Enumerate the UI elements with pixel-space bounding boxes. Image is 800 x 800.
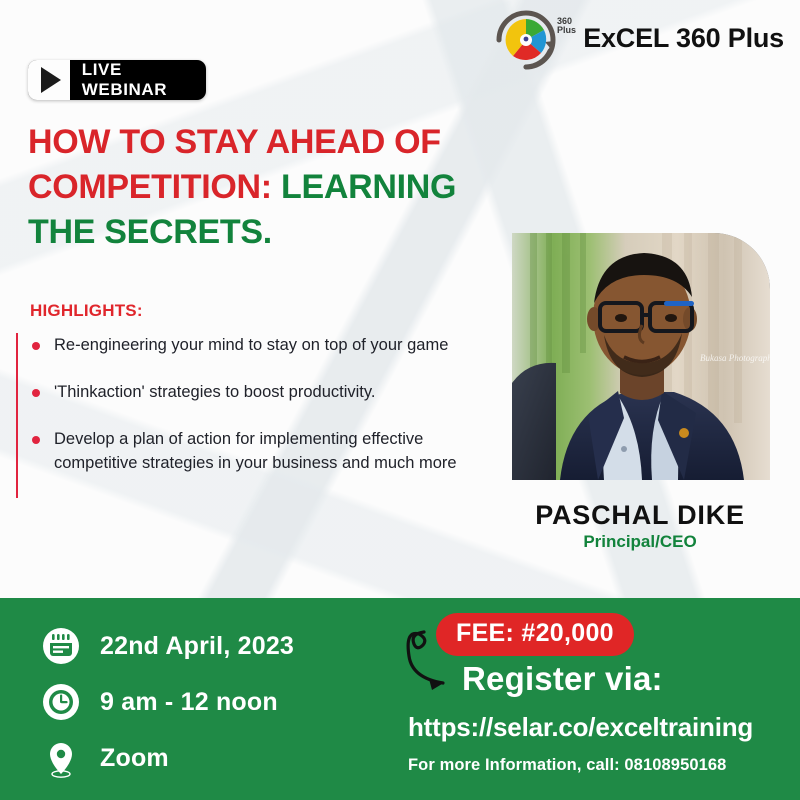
event-time-value: 9 am - 12 noon <box>100 688 278 717</box>
speaker-name: PASCHAL DIKE <box>490 500 790 531</box>
headline-line-1: HOW TO STAY AHEAD OF <box>28 123 441 161</box>
speaker-role: Principal/CEO <box>490 532 790 552</box>
bullet-dot-icon <box>32 389 40 397</box>
register-label: Register via: <box>462 660 663 698</box>
event-detail-location: Zoom <box>40 730 294 786</box>
event-detail-time: 9 am - 12 noon <box>40 674 294 730</box>
highlight-text: Re-engineering your mind to stay on top … <box>54 333 448 358</box>
speaker-photo: Bukasa Photography <box>512 233 770 480</box>
live-webinar-badge: LIVE WEBINAR <box>28 60 206 100</box>
clock-icon <box>40 683 82 721</box>
event-detail-date: 22nd April, 2023 <box>40 618 294 674</box>
live-webinar-label: LIVE WEBINAR <box>82 60 206 100</box>
play-icon <box>28 60 70 100</box>
webinar-flyer: LIVE WEBINAR 360 Plus <box>0 0 800 800</box>
fee-badge: FEE: #20,000 <box>436 613 634 656</box>
headline-line-3: THE SECRETS. <box>28 213 272 251</box>
list-item: Develop a plan of action for implementin… <box>18 427 488 477</box>
event-location-value: Zoom <box>100 744 169 773</box>
event-date-value: 22nd April, 2023 <box>100 632 294 661</box>
list-item: Re-engineering your mind to stay on top … <box>18 333 488 358</box>
highlights-heading: HIGHLIGHTS: <box>30 301 143 321</box>
bullet-dot-icon <box>32 436 40 444</box>
more-information-text: For more Information, call: 08108950168 <box>408 756 726 775</box>
highlights-list: Re-engineering your mind to stay on top … <box>16 333 488 498</box>
highlight-text: 'Thinkaction' strategies to boost produc… <box>54 380 375 405</box>
page-title: HOW TO STAY AHEAD OF COMPETITION: LEARNI… <box>28 120 498 256</box>
headline-line-2-green: LEARNING <box>281 168 456 206</box>
photo-watermark: Bukasa Photography <box>700 353 770 363</box>
calendar-icon <box>40 627 82 665</box>
logo-text-plus: Plus <box>557 25 576 35</box>
location-pin-icon <box>40 738 82 778</box>
headline-line-2-red: COMPETITION: <box>28 168 272 206</box>
brand-name: ExCEL 360 Plus <box>583 23 784 58</box>
excel-360-plus-logo-icon: 360 Plus <box>487 8 579 72</box>
registration-url[interactable]: https://selar.co/exceltraining <box>408 712 753 743</box>
bullet-dot-icon <box>32 342 40 350</box>
event-details-list: 22nd April, 2023 9 am - 12 noon <box>40 618 294 786</box>
list-item: 'Thinkaction' strategies to boost produc… <box>18 380 488 405</box>
highlight-text: Develop a plan of action for implementin… <box>54 427 488 477</box>
brand-lockup: 360 Plus ExCEL 360 Plus <box>487 8 784 72</box>
